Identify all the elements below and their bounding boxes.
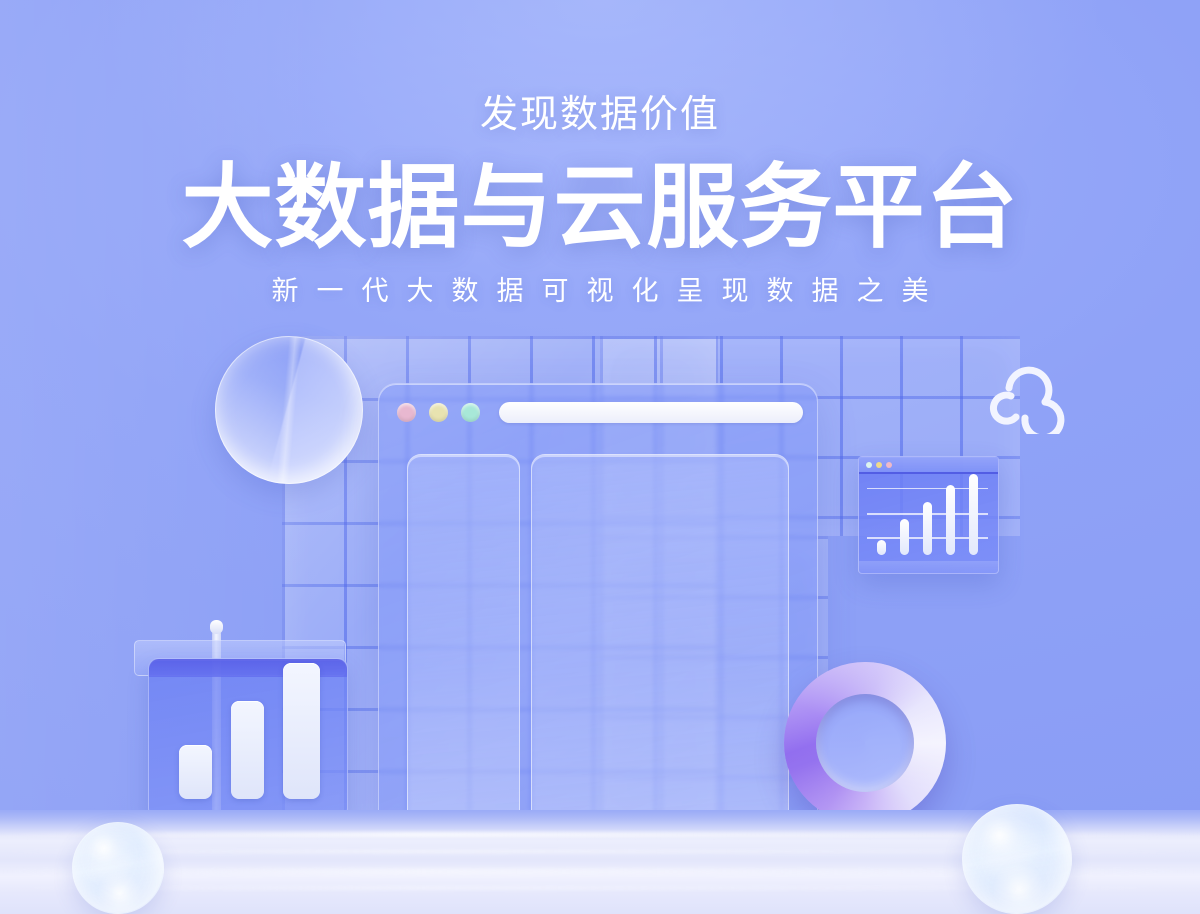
browser-window[interactable] [378,383,818,830]
chart-bar [923,502,932,555]
sidebar-panel[interactable] [407,454,520,830]
minimize-dot-icon[interactable] [429,403,448,422]
analytics-window-footer [859,561,998,573]
glass-disc [215,336,363,484]
page-title: 大数据与云服务平台 [0,162,1200,256]
address-bar-input[interactable] [499,402,803,423]
chart-bar [231,701,264,799]
analytics-window[interactable] [858,456,999,574]
mw-close-dot-icon[interactable] [866,462,872,468]
chart-bar [179,745,212,799]
hero-eyebrow: 发现数据价值 [0,96,1200,134]
chart-bar [877,540,886,555]
mw-minimize-dot-icon[interactable] [876,462,882,468]
hero-scene: 发现数据价值 大数据与云服务平台 新一代大数据可视化呈现数据之美 [0,0,1200,914]
chart-bar [900,519,909,555]
bar-chart-card[interactable] [140,640,358,826]
mw-maximize-dot-icon[interactable] [886,462,892,468]
hero-subtitle: 新一代大数据可视化呈现数据之美 [0,278,1200,305]
analytics-bar-chart [859,476,998,561]
bar-card-body [148,658,348,818]
close-dot-icon[interactable] [397,403,416,422]
hero-copy: 发现数据价值 大数据与云服务平台 新一代大数据可视化呈现数据之美 [0,0,1200,305]
cloud-icon [975,362,1067,434]
content-panel[interactable] [531,454,789,830]
maximize-dot-icon[interactable] [461,403,480,422]
glass-sphere-right [962,804,1072,914]
torus-shape [784,662,946,824]
chart-bar [946,485,955,555]
browser-titlebar [379,384,817,440]
glass-sphere-left [72,822,164,914]
chart-bar [283,663,320,799]
chart-bar [969,474,978,555]
analytics-window-titlebar [859,457,998,474]
